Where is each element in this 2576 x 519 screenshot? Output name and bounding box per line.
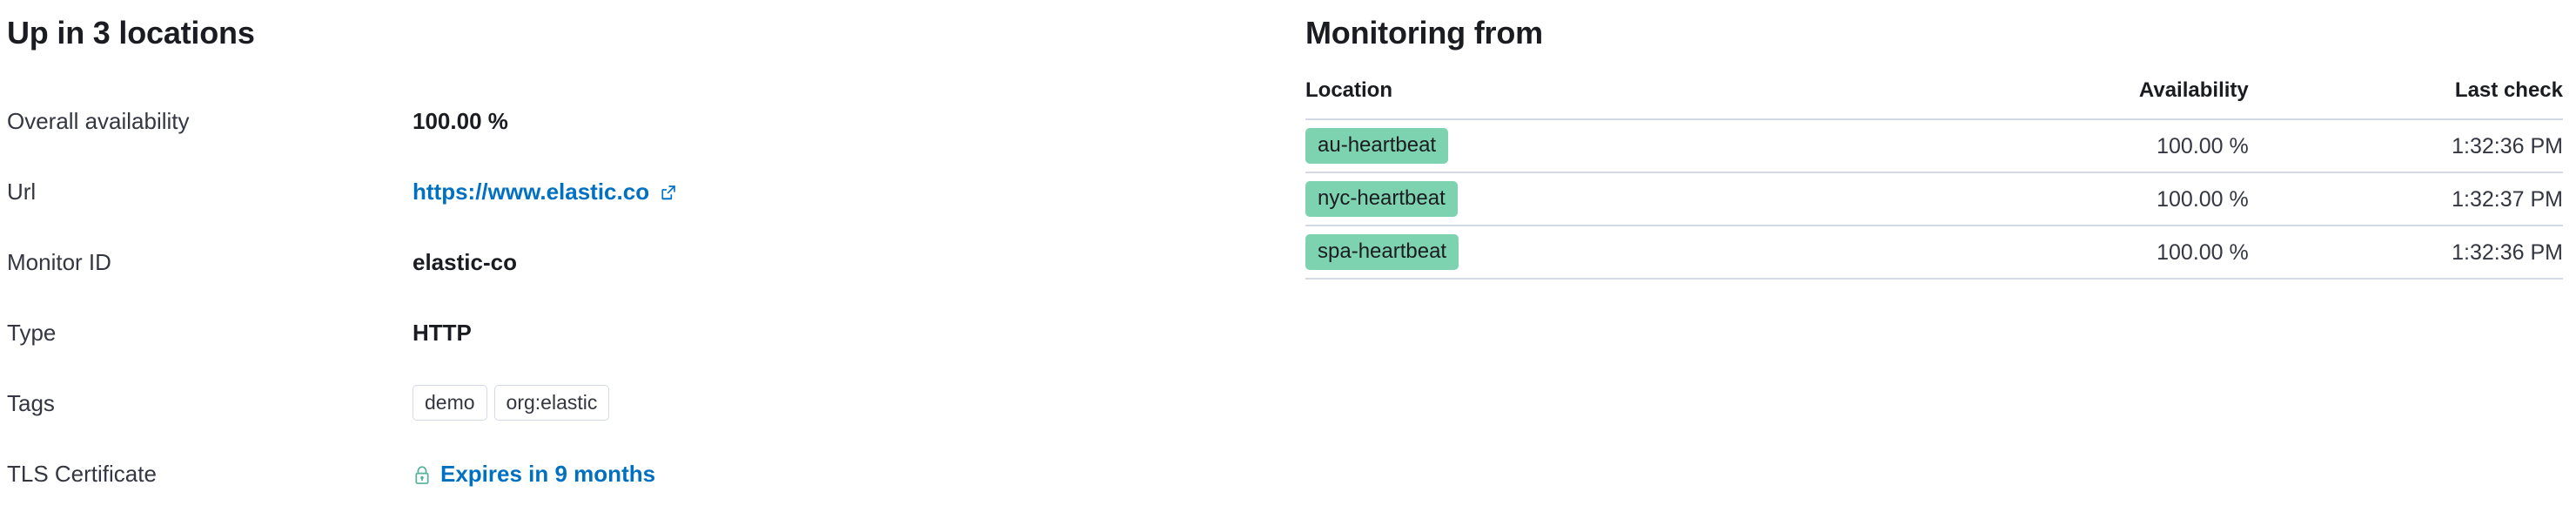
tag-pill[interactable]: demo xyxy=(413,385,487,421)
label-tls-certificate: TLS Certificate xyxy=(7,460,413,488)
monitoring-locations-panel: Monitoring from Location Availability La… xyxy=(1305,0,2576,519)
table-row[interactable]: spa-heartbeat 100.00 % 1:32:36 PM xyxy=(1305,226,2563,279)
attribute-row-overall-availability: Overall availability 100.00 % xyxy=(7,85,1305,156)
label-monitor-id: Monitor ID xyxy=(7,248,413,276)
external-link-icon xyxy=(659,183,678,202)
attribute-row-tags: Tags demo org:elastic xyxy=(7,367,1305,438)
column-header-location[interactable]: Location xyxy=(1305,78,1871,119)
attribute-row-tls-certificate: TLS Certificate Expires in 9 months xyxy=(7,438,1305,509)
page-title: Up in 3 locations xyxy=(7,0,1305,52)
attribute-row-monitor-id: Monitor ID elastic-co xyxy=(7,226,1305,297)
url-link-text: https://www.elastic.co xyxy=(413,178,649,206)
cell-availability: 100.00 % xyxy=(1871,226,2249,279)
attribute-row-url: Url https://www.elastic.co xyxy=(7,156,1305,226)
monitoring-locations-table: Location Availability Last check au-hear… xyxy=(1305,78,2563,280)
column-header-availability[interactable]: Availability xyxy=(1871,78,2249,119)
tag-list: demo org:elastic xyxy=(413,385,609,421)
attribute-row-type: Type HTTP xyxy=(7,297,1305,367)
location-badge[interactable]: spa-heartbeat xyxy=(1305,234,1459,270)
cell-last-check: 1:32:36 PM xyxy=(2249,119,2563,172)
table-row[interactable]: nyc-heartbeat 100.00 % 1:32:37 PM xyxy=(1305,172,2563,226)
cell-availability: 100.00 % xyxy=(1871,172,2249,226)
value-type: HTTP xyxy=(413,319,472,347)
cell-location: au-heartbeat xyxy=(1305,119,1871,172)
tls-certificate-text: Expires in 9 months xyxy=(440,460,655,488)
label-overall-availability: Overall availability xyxy=(7,107,413,135)
column-header-last-check[interactable]: Last check xyxy=(2249,78,2563,119)
lock-icon xyxy=(413,465,432,486)
table-header-row: Location Availability Last check xyxy=(1305,78,2563,119)
table-body: au-heartbeat 100.00 % 1:32:36 PM nyc-hea… xyxy=(1305,119,2563,279)
location-badge[interactable]: au-heartbeat xyxy=(1305,128,1448,164)
monitor-detail-page: Up in 3 locations Overall availability 1… xyxy=(0,0,2576,519)
location-badge[interactable]: nyc-heartbeat xyxy=(1305,181,1458,217)
url-link[interactable]: https://www.elastic.co xyxy=(413,178,678,206)
cell-last-check: 1:32:37 PM xyxy=(2249,172,2563,226)
tls-certificate-link[interactable]: Expires in 9 months xyxy=(413,460,655,488)
cell-availability: 100.00 % xyxy=(1871,119,2249,172)
label-tags: Tags xyxy=(7,389,413,417)
monitor-summary-panel: Up in 3 locations Overall availability 1… xyxy=(0,0,1305,519)
table-row[interactable]: au-heartbeat 100.00 % 1:32:36 PM xyxy=(1305,119,2563,172)
value-overall-availability: 100.00 % xyxy=(413,107,508,135)
value-tags: demo org:elastic xyxy=(413,385,609,421)
cell-location: spa-heartbeat xyxy=(1305,226,1871,279)
value-monitor-id: elastic-co xyxy=(413,248,517,276)
table-head: Location Availability Last check xyxy=(1305,78,2563,119)
tag-pill[interactable]: org:elastic xyxy=(494,385,610,421)
label-url: Url xyxy=(7,178,413,206)
cell-last-check: 1:32:36 PM xyxy=(2249,226,2563,279)
label-type: Type xyxy=(7,319,413,347)
monitoring-from-title: Monitoring from xyxy=(1305,0,2563,52)
monitor-attribute-list: Overall availability 100.00 % Url https:… xyxy=(7,85,1305,509)
cell-location: nyc-heartbeat xyxy=(1305,172,1871,226)
